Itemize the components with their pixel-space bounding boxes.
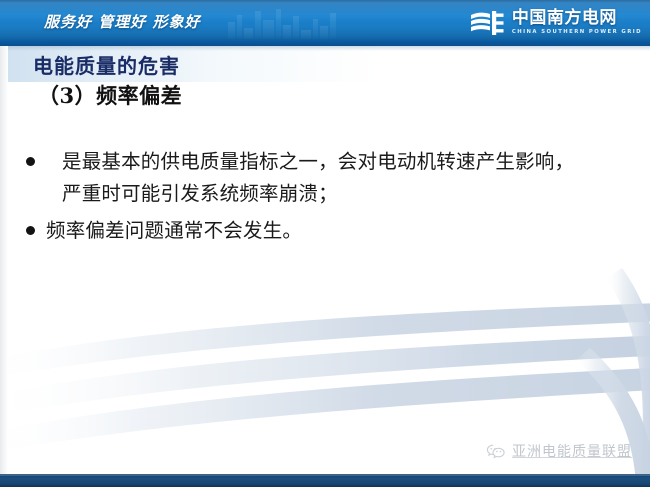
slide: 服务好 管理好 形象好 中国南方电网 CHINA SOUTHERN POWER …	[0, 0, 650, 487]
watermark-label: 亚洲电能质量联盟	[512, 441, 632, 461]
wechat-icon	[486, 443, 506, 460]
header-bottom-band	[0, 39, 650, 46]
page-title: 电能质量的危害	[33, 50, 180, 79]
logo-text-group: 中国南方电网 CHINA SOUTHERN POWER GRID	[512, 10, 642, 35]
list-item: 频率偏差问题通常不会发生。	[0, 215, 650, 247]
bullet-line: 是最基本的供电质量指标之一，会对电动机转速产生影响，	[46, 146, 650, 178]
csg-logo-mark	[470, 9, 505, 37]
slide-header: 服务好 管理好 形象好 中国南方电网 CHINA SOUTHERN POWER …	[0, 0, 650, 46]
left-edge-strip	[0, 0, 8, 487]
brand-logo: 中国南方电网 CHINA SOUTHERN POWER GRID	[470, 6, 642, 40]
bullet-line: 严重时可能引发系统频率崩溃；	[46, 178, 650, 210]
bullet-dot-icon	[26, 226, 35, 235]
list-item: 是最基本的供电质量指标之一，会对电动机转速产生影响， 严重时可能引发系统频率崩溃…	[0, 146, 650, 209]
logo-english-name: CHINA SOUTHERN POWER GRID	[512, 30, 642, 35]
bullet-list: 是最基本的供电质量指标之一，会对电动机转速产生影响， 严重时可能引发系统频率崩溃…	[0, 146, 650, 246]
footer-watermark: 亚洲电能质量联盟	[486, 441, 632, 461]
cityscape-texture	[228, 2, 343, 42]
section-subtitle: （3）频率偏差	[0, 82, 650, 110]
logo-chinese-name: 中国南方电网	[512, 10, 642, 27]
header-slogan: 服务好 管理好 形象好	[44, 11, 200, 32]
bullet-dot-icon	[26, 157, 35, 166]
bottom-bar-highlight	[0, 474, 650, 476]
slide-content: （3）频率偏差 是最基本的供电质量指标之一，会对电动机转速产生影响， 严重时可能…	[0, 82, 650, 251]
bottom-bar	[0, 474, 650, 487]
bullet-line: 频率偏差问题通常不会发生。	[46, 215, 650, 247]
